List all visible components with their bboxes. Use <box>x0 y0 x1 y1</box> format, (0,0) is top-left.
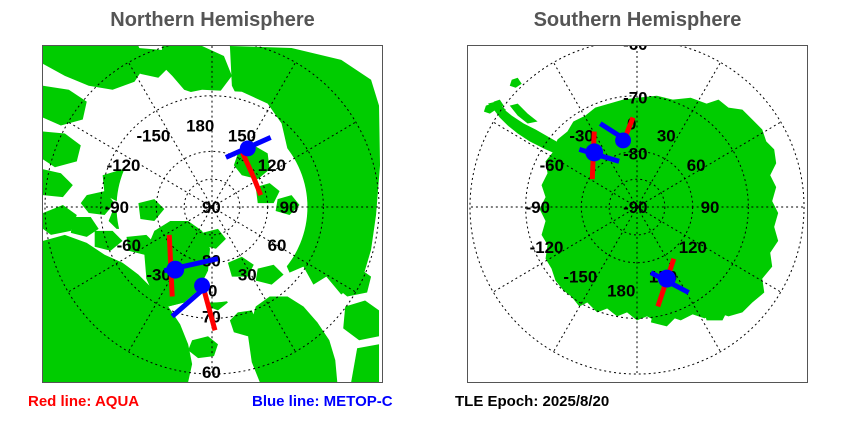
lat-label-90: 90 <box>202 198 221 217</box>
lon-label-neg150: -150 <box>136 126 170 145</box>
lat-label-neg90: -90 <box>623 198 647 217</box>
lon-label-180: 180 <box>186 116 214 135</box>
lon-label-neg60: -60 <box>117 236 141 255</box>
lon-label-60: 60 <box>687 156 706 175</box>
lon-label-neg60: -60 <box>540 156 564 175</box>
satellite-dot <box>615 132 631 148</box>
northern-hemisphere-plot: 0 30 60 90 120 150 180 -150 -120 -90 -60… <box>42 45 383 383</box>
lon-label-neg120: -120 <box>107 156 141 175</box>
legend-tle-epoch: TLE Epoch: 2025/8/20 <box>455 392 609 412</box>
lon-label-120: 120 <box>258 156 286 175</box>
legend-blue-line: Blue line: METOP-C <box>252 392 393 412</box>
satellite-dot <box>166 261 184 279</box>
lon-label-neg120: -120 <box>530 238 564 257</box>
lon-label-neg150: -150 <box>563 268 597 287</box>
lon-label-30: 30 <box>657 126 676 145</box>
satellite-dot <box>194 278 210 294</box>
lon-label-neg90: -90 <box>526 198 550 217</box>
satellite-dot <box>240 140 256 156</box>
lon-label-30: 30 <box>238 266 257 285</box>
satellite-dot <box>585 143 603 161</box>
lon-label-60: 60 <box>268 236 287 255</box>
lon-label-90: 90 <box>280 198 299 217</box>
southern-hemisphere-title: Southern Hemisphere <box>425 6 850 34</box>
lon-label-neg90: -90 <box>105 198 129 217</box>
satellite-dot <box>658 270 676 288</box>
southern-hemisphere-map: 0 30 60 90 120 150 180 -150 -120 -90 -60… <box>468 46 807 382</box>
northern-hemisphere-title: Northern Hemisphere <box>0 6 425 34</box>
lon-label-90: 90 <box>701 198 720 217</box>
northern-hemisphere-panel: Northern Hemisphere <box>0 0 425 425</box>
southern-hemisphere-panel: Southern Hemisphere <box>425 0 850 425</box>
lat-label-60: 60 <box>202 363 221 382</box>
lon-label-neg30: -30 <box>569 126 593 145</box>
legend-red-line: Red line: AQUA <box>28 392 139 412</box>
lon-label-120: 120 <box>679 238 707 257</box>
lat-label-neg60: -60 <box>623 46 647 54</box>
lon-label-180: 180 <box>607 282 635 301</box>
legend-bar: Red line: AQUA Blue line: METOP-C TLE Ep… <box>0 392 850 418</box>
southern-hemisphere-plot: 0 30 60 90 120 150 180 -150 -120 -90 -60… <box>467 45 808 383</box>
lat-label-neg70: -70 <box>623 89 647 108</box>
northern-hemisphere-map: 0 30 60 90 120 150 180 -150 -120 -90 -60… <box>43 46 382 382</box>
